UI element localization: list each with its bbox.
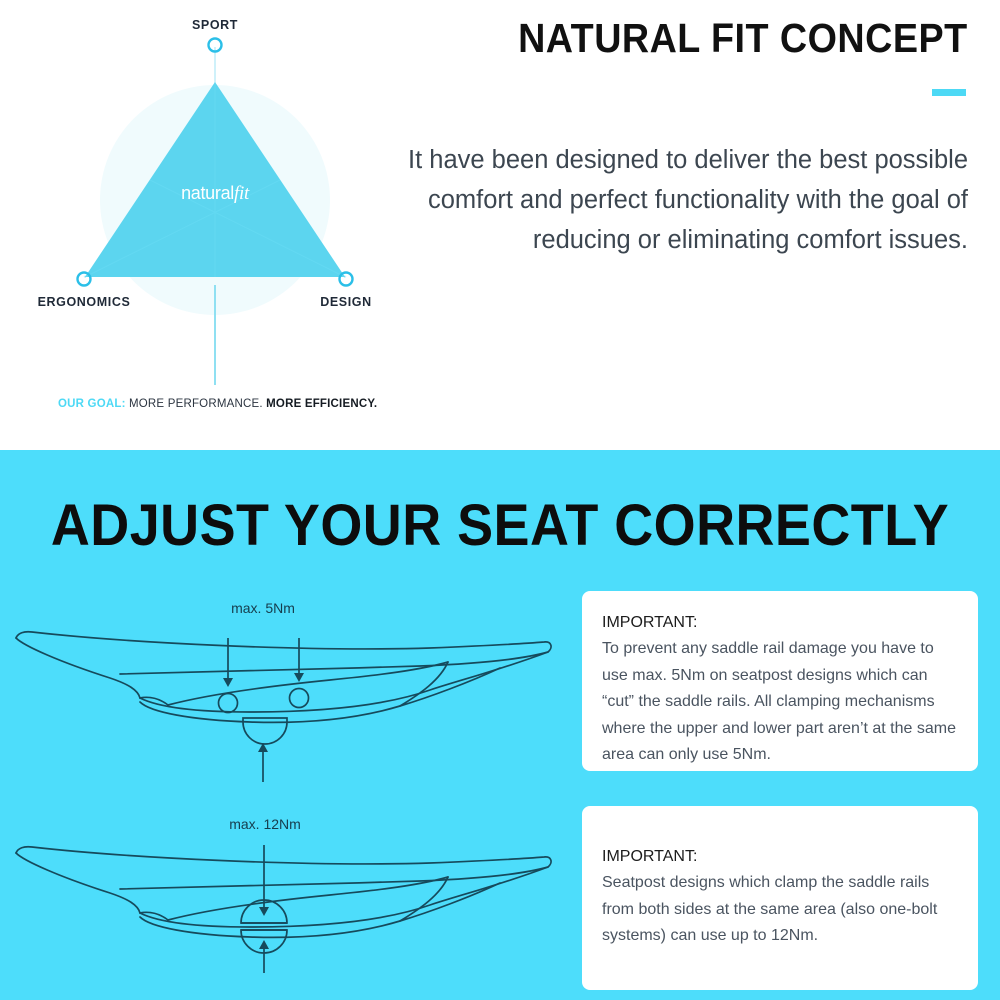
infographic-page: SPORT ERGONOMICS DESIGN naturalfit OUR G…: [0, 0, 1000, 1000]
bolt-circle-rear: [290, 689, 309, 708]
triangle-graphic: [0, 0, 430, 450]
saddle-graphic-5nm: [0, 590, 570, 790]
bolt-circle-front: [219, 694, 238, 713]
torque-label-12nm: max. 12Nm: [229, 816, 301, 832]
our-goal-caption: OUR GOAL: MORE PERFORMANCE. MORE EFFICIE…: [58, 398, 377, 410]
adjust-seat-section: ADJUST YOUR SEAT CORRECTLY max. 5Nm: [0, 450, 1000, 1000]
goal-performance: MORE PERFORMANCE.: [126, 398, 263, 410]
vertex-ring-design: [340, 273, 353, 286]
goal-efficiency: MORE EFFICIENCY.: [263, 398, 378, 410]
page-title: NATURAL FIT CONCEPT: [519, 15, 968, 62]
section-title: ADJUST YOUR SEAT CORRECTLY: [51, 492, 949, 559]
title-accent-bar: [932, 89, 966, 96]
saddle-graphic-12nm: [0, 805, 570, 995]
logo-word-fit: fit: [234, 183, 249, 204]
concept-paragraph: It have been designed to deliver the bes…: [378, 140, 968, 260]
card-body: Seatpost designs which clamp the saddle …: [602, 870, 956, 950]
vertex-label-ergonomics: ERGONOMICS: [38, 295, 131, 309]
important-card-12nm: IMPORTANT: Seatpost designs which clamp …: [582, 806, 978, 990]
vertex-ring-ergonomics: [78, 273, 91, 286]
important-card-5nm: IMPORTANT: To prevent any saddle rail da…: [582, 591, 978, 771]
natural-fit-logo: naturalfit: [181, 183, 249, 205]
goal-label: OUR GOAL:: [58, 398, 126, 410]
saddle-diagram-5nm: max. 5Nm: [0, 590, 570, 790]
card-body: To prevent any saddle rail damage you ha…: [602, 636, 956, 769]
card-heading: IMPORTANT:: [602, 610, 956, 635]
vertex-label-design: DESIGN: [320, 295, 372, 309]
vertex-label-sport: SPORT: [192, 18, 238, 32]
torque-label-5nm: max. 5Nm: [231, 600, 295, 616]
saddle-diagram-12nm: max. 12Nm: [0, 805, 570, 995]
natural-fit-triangle-diagram: SPORT ERGONOMICS DESIGN naturalfit OUR G…: [0, 0, 430, 450]
logo-word-natural: natural: [181, 183, 234, 203]
card-heading: IMPORTANT:: [602, 844, 956, 869]
natural-fit-concept-section: SPORT ERGONOMICS DESIGN naturalfit OUR G…: [0, 0, 1000, 450]
